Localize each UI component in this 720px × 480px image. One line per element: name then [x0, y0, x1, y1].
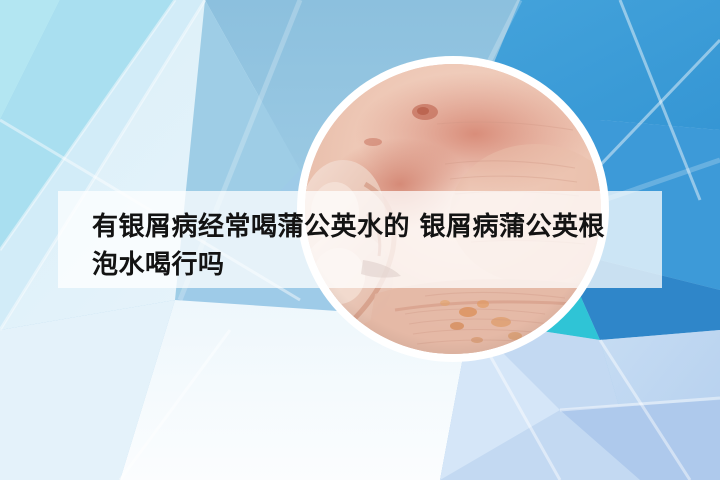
thumbnail-card: 有银屑病经常喝蒲公英水的 银屑病蒲公英根泡水喝行吗	[0, 0, 720, 480]
caption-line-2: 泡水喝行吗	[92, 250, 225, 280]
caption-line-1: 有银屑病经常喝蒲公英水的 银屑病蒲公英根	[92, 212, 605, 242]
caption-title: 有银屑病经常喝蒲公英水的 银屑病蒲公英根泡水喝行吗	[92, 208, 652, 284]
